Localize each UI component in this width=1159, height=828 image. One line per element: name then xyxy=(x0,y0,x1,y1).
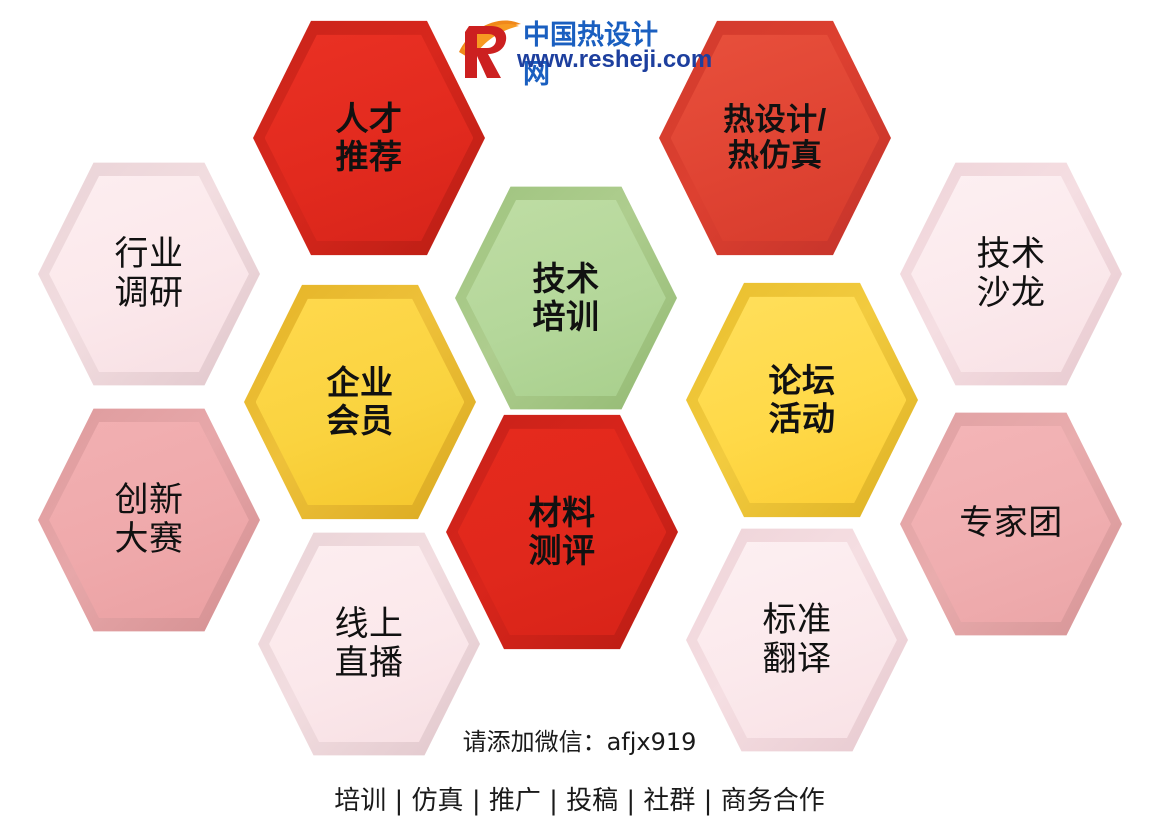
site-logo: 中国热设计网 www.resheji.com xyxy=(455,12,680,90)
hex-label-industry: 行业 调研 xyxy=(115,235,184,314)
hex-cell-innovation[interactable]: 创新 大赛 xyxy=(38,404,260,636)
hex-label-standards: 标准 翻译 xyxy=(763,601,832,680)
hex-label-training: 技术 培训 xyxy=(533,260,600,337)
hexagon-service-diagram: 人才 推荐热设计/ 热仿真行业 调研技术 培训技术 沙龙企业 会员论坛 活动创新… xyxy=(0,0,1159,828)
hex-label-enterprise: 企业 会员 xyxy=(327,364,394,441)
hex-cell-talent[interactable]: 人才 推荐 xyxy=(253,16,485,260)
hex-label-salon: 技术 沙龙 xyxy=(977,235,1046,314)
services-footer-line: 培训 | 仿真 | 推广 | 投稿 | 社群 | 商务合作 xyxy=(0,780,1159,817)
hex-label-live: 线上 直播 xyxy=(335,605,404,684)
hex-cell-forum[interactable]: 论坛 活动 xyxy=(686,278,918,522)
hex-label-talent: 人才 推荐 xyxy=(336,100,403,177)
hex-label-expert: 专家团 xyxy=(959,504,1063,543)
hex-label-innovation: 创新 大赛 xyxy=(115,481,184,560)
hex-cell-industry[interactable]: 行业 调研 xyxy=(38,158,260,390)
hex-label-thermal: 热设计/ 热仿真 xyxy=(723,102,827,174)
hex-cell-training[interactable]: 技术 培训 xyxy=(455,182,677,414)
hex-label-forum: 论坛 活动 xyxy=(769,362,836,439)
hex-cell-material[interactable]: 材料 测评 xyxy=(446,410,678,654)
wechat-contact-line: 请添加微信：afjx919 xyxy=(0,722,1159,757)
hex-cell-enterprise[interactable]: 企业 会员 xyxy=(244,280,476,524)
hex-cell-expert[interactable]: 专家团 xyxy=(900,408,1122,640)
r-swoosh-icon xyxy=(455,12,525,86)
hex-label-material: 材料 测评 xyxy=(529,494,596,571)
hex-cell-salon[interactable]: 技术 沙龙 xyxy=(900,158,1122,390)
logo-url: www.resheji.com xyxy=(517,46,712,74)
